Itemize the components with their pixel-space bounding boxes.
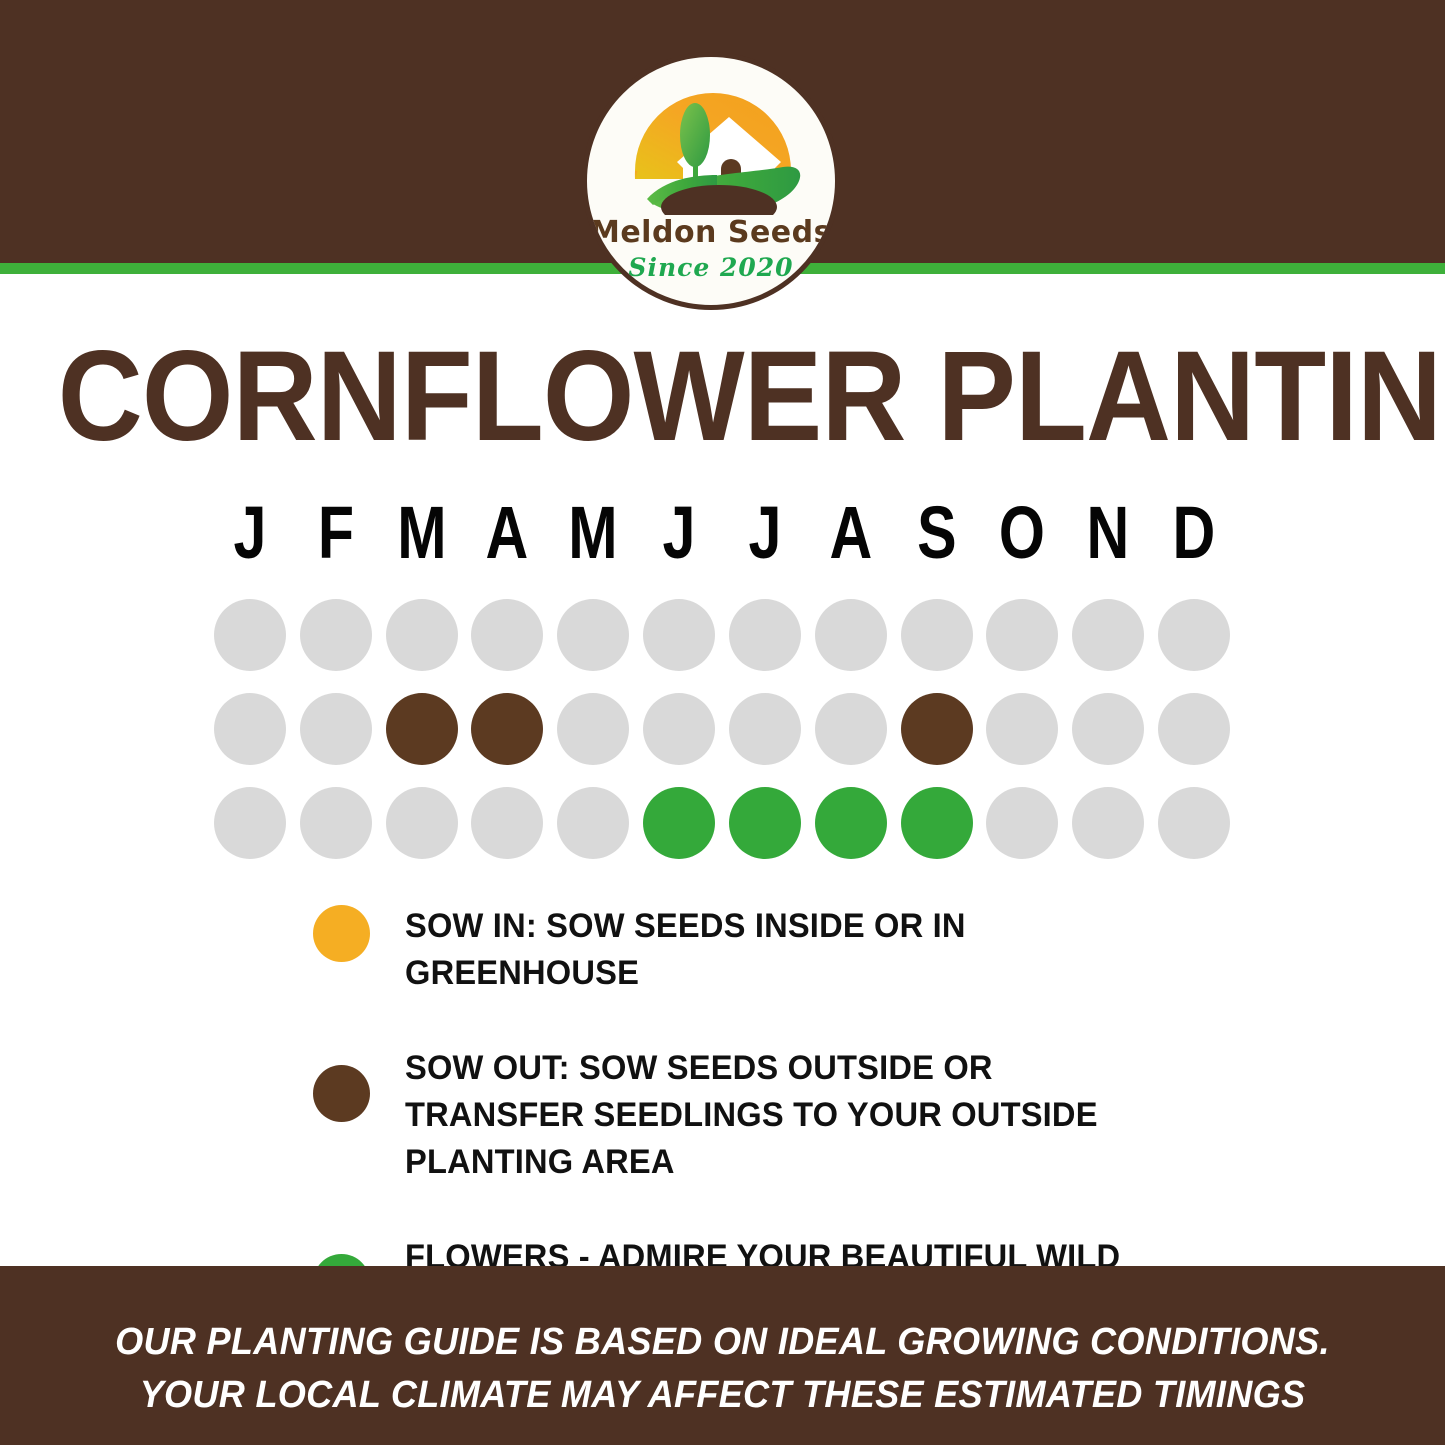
calendar-cell-flowers-may: [550, 787, 636, 881]
calendar-dot-inactive: [815, 599, 887, 671]
calendar-dot-active: [471, 693, 543, 765]
calendar-cell-sow-in-november: [1065, 599, 1151, 693]
month-label-feb: F: [301, 497, 370, 569]
calendar-dot-inactive: [214, 693, 286, 765]
calendar-cell-sow-out-august: [808, 693, 894, 787]
calendar-cell-sow-in-february: [293, 599, 379, 693]
calendar-cell-sow-out-march: [379, 693, 465, 787]
calendar-cell-flowers-august: [808, 787, 894, 881]
calendar-dot-inactive: [815, 693, 887, 765]
calendar-dot-inactive: [557, 787, 629, 859]
calendar-dot-inactive: [300, 599, 372, 671]
calendar-cell-flowers-january: [207, 787, 293, 881]
calendar-cell-sow-in-may: [550, 599, 636, 693]
legend-dot-sow-out-icon: [313, 1065, 370, 1122]
month-label-oct: O: [988, 497, 1057, 569]
calendar-cell-flowers-october: [979, 787, 1065, 881]
logo-brand-name: Meldon Seeds: [587, 215, 835, 250]
calendar-row-sow-in: [207, 599, 1237, 693]
calendar-cell-flowers-march: [379, 787, 465, 881]
farmhouse-sun-seed-logo-icon: [587, 75, 835, 215]
calendar-dot-inactive: [986, 787, 1058, 859]
legend-item-sow-out: SOW OUT: SOW SEEDS OUTSIDE OR TRANSFER S…: [313, 1045, 1213, 1186]
calendar-dot-inactive: [471, 787, 543, 859]
legend-label-sow-in: SOW IN: SOW SEEDS INSIDE OR IN GREENHOUS…: [405, 903, 1135, 997]
calendar-dot-inactive: [986, 599, 1058, 671]
calendar-dot-inactive: [471, 599, 543, 671]
calendar-dot-inactive: [557, 693, 629, 765]
footer-disclaimer: OUR PLANTING GUIDE IS BASED ON IDEAL GRO…: [36, 1316, 1409, 1422]
calendar-cell-sow-in-july: [722, 599, 808, 693]
calendar-cell-flowers-july: [722, 787, 808, 881]
brand-logo: Meldon Seeds Since 2020: [582, 52, 840, 310]
calendar-dot-inactive: [1072, 787, 1144, 859]
calendar-dot-inactive: [386, 787, 458, 859]
calendar-cell-sow-in-august: [808, 599, 894, 693]
legend-label-sow-out: SOW OUT: SOW SEEDS OUTSIDE OR TRANSFER S…: [405, 1045, 1135, 1186]
calendar-row-flowers: [207, 787, 1237, 881]
calendar-dot-inactive: [214, 599, 286, 671]
month-label-mar: M: [387, 497, 456, 569]
calendar-cell-sow-out-february: [293, 693, 379, 787]
month-label-apr: A: [473, 497, 542, 569]
logo-tagline: Since 2020: [587, 253, 835, 282]
calendar-cell-sow-out-december: [1151, 693, 1237, 787]
calendar-dot-inactive: [214, 787, 286, 859]
month-label-aug: A: [816, 497, 885, 569]
month-label-may: M: [559, 497, 628, 569]
calendar-cell-flowers-september: [894, 787, 980, 881]
calendar-dot-inactive: [386, 599, 458, 671]
calendar-cell-flowers-february: [293, 787, 379, 881]
calendar-cell-sow-out-april: [464, 693, 550, 787]
legend-dot-sow-in-icon: [313, 905, 370, 962]
calendar-dot-inactive: [643, 599, 715, 671]
calendar-cell-sow-out-may: [550, 693, 636, 787]
calendar-dot-inactive: [1158, 599, 1230, 671]
footer-line-1: OUR PLANTING GUIDE IS BASED ON IDEAL GRO…: [36, 1316, 1409, 1369]
calendar-cell-sow-in-september: [894, 599, 980, 693]
calendar-cell-flowers-june: [636, 787, 722, 881]
month-label-jul: J: [731, 497, 800, 569]
calendar-dot-inactive: [300, 693, 372, 765]
calendar-dot-active: [901, 693, 973, 765]
page-title: CORNFLOWER PLANTING GUIDE: [58, 333, 1387, 461]
calendar-dot-inactive: [729, 693, 801, 765]
calendar-cell-sow-out-july: [722, 693, 808, 787]
calendar-cell-sow-out-september: [894, 693, 980, 787]
calendar-dot-inactive: [986, 693, 1058, 765]
calendar-dot-active: [901, 787, 973, 859]
calendar-cell-flowers-november: [1065, 787, 1151, 881]
calendar-dot-active: [386, 693, 458, 765]
calendar-row-sow-out: [207, 693, 1237, 787]
month-label-dec: D: [1160, 497, 1229, 569]
calendar-cell-sow-in-april: [464, 599, 550, 693]
calendar-cell-sow-in-june: [636, 599, 722, 693]
planting-calendar-grid: [207, 599, 1237, 860]
calendar-cell-flowers-april: [464, 787, 550, 881]
calendar-dot-inactive: [1158, 693, 1230, 765]
calendar-dot-active: [729, 787, 801, 859]
calendar-cell-sow-in-march: [379, 599, 465, 693]
calendar-cell-sow-in-december: [1151, 599, 1237, 693]
month-header-row: J F M A M J J A S O N D: [207, 497, 1237, 569]
calendar-cell-sow-out-october: [979, 693, 1065, 787]
calendar-dot-inactive: [1072, 693, 1144, 765]
calendar-dot-inactive: [643, 693, 715, 765]
month-label-jun: J: [645, 497, 714, 569]
month-label-jan: J: [216, 497, 285, 569]
calendar-dot-inactive: [300, 787, 372, 859]
calendar-dot-inactive: [729, 599, 801, 671]
calendar-dot-active: [643, 787, 715, 859]
calendar-cell-flowers-december: [1151, 787, 1237, 881]
calendar-cell-sow-out-november: [1065, 693, 1151, 787]
calendar-cell-sow-in-january: [207, 599, 293, 693]
calendar-dot-inactive: [557, 599, 629, 671]
calendar-cell-sow-out-june: [636, 693, 722, 787]
footer-line-2: YOUR LOCAL CLIMATE MAY AFFECT THESE ESTI…: [36, 1369, 1409, 1422]
calendar-dot-inactive: [1158, 787, 1230, 859]
planting-guide-poster: Meldon Seeds Since 2020 CORNFLOWER PLANT…: [0, 0, 1445, 1445]
month-label-nov: N: [1074, 497, 1143, 569]
calendar-dot-inactive: [1072, 599, 1144, 671]
legend-item-sow-in: SOW IN: SOW SEEDS INSIDE OR IN GREENHOUS…: [313, 903, 1213, 997]
calendar-cell-sow-out-january: [207, 693, 293, 787]
calendar-dot-inactive: [901, 599, 973, 671]
calendar-cell-sow-in-october: [979, 599, 1065, 693]
calendar-dot-active: [815, 787, 887, 859]
month-label-sep: S: [902, 497, 971, 569]
